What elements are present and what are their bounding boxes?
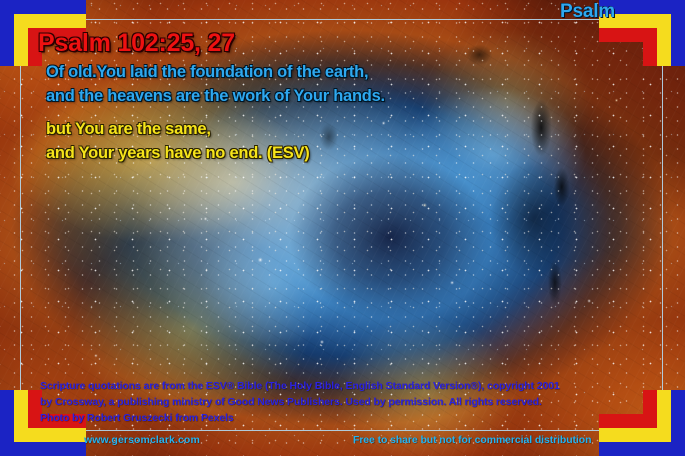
verse-line-1: Of old.You laid the foundation of the ea… (46, 61, 508, 85)
site-url-link[interactable]: www.gersomclark.com (84, 434, 200, 446)
credit-line-photo: Photo by Robert Gruszecki from Pexels (40, 411, 630, 427)
verse-block: Psalm 102:25, 27 Of old.You laid the fou… (38, 30, 508, 166)
book-label: Psalm (560, 1, 615, 23)
share-notice: Free to share but not for commercial dis… (353, 434, 591, 446)
corner-yellow-arm-vertical (657, 14, 671, 66)
corner-blue-arm-vertical (0, 0, 14, 66)
verse-line-2: and the heavens are the work of Your han… (46, 85, 508, 109)
footer-bar: www.gersomclark.com Free to share but no… (0, 434, 685, 456)
corner-yellow-arm-vertical (14, 14, 28, 66)
credit-line-copyright-1: Scripture quotations are from the ESV® B… (40, 379, 630, 395)
corner-red-arm-vertical (643, 28, 657, 66)
verse-line-3: but You are the same, (46, 118, 508, 142)
verse-reference: Psalm 102:25, 27 (38, 30, 508, 56)
corner-red-arm-vertical (643, 390, 657, 428)
credits-block: Scripture quotations are from the ESV® B… (40, 379, 630, 427)
verse-line-4: and Your years have no end. (ESV) (46, 142, 508, 166)
scripture-poster: Psalm Psalm 102:25, 27 Of old.You laid t… (0, 0, 685, 456)
corner-blue-arm-vertical (671, 0, 685, 66)
credit-line-copyright-2: by Crossway, a publishing ministry of Go… (40, 395, 630, 411)
